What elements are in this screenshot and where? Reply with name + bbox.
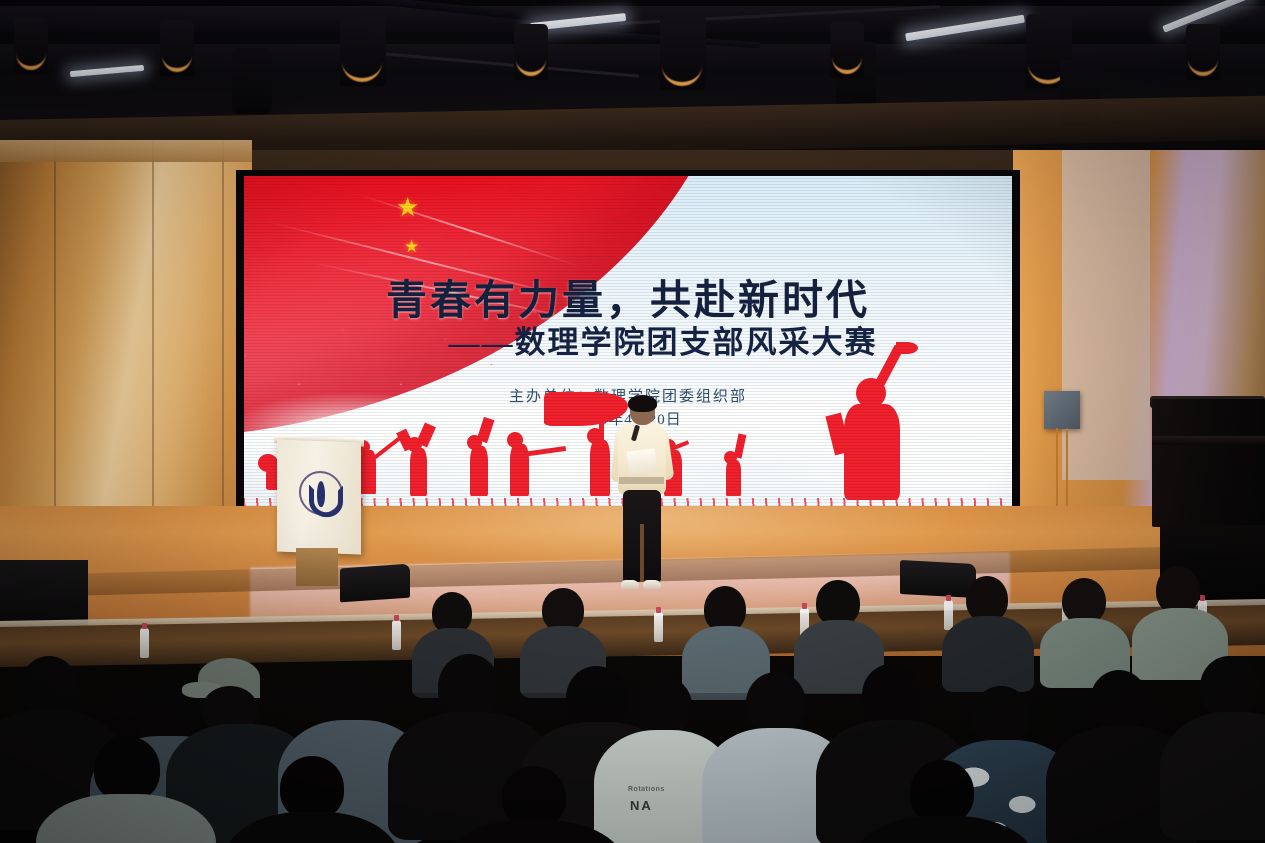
stage-spotlight-2 <box>160 20 194 76</box>
na-shirt <box>594 730 734 843</box>
baseball-cap <box>198 658 260 698</box>
stage-spotlight-3 <box>340 12 386 86</box>
shirt-graphic-text: NA <box>630 798 653 813</box>
speaker-cable-1 <box>1056 428 1058 514</box>
water-bottle <box>392 620 401 650</box>
presenter-belt <box>619 477 664 484</box>
right-wall-panel <box>1062 150 1150 480</box>
stage-spotlight-1 <box>14 18 48 74</box>
water-bottle <box>1198 600 1207 630</box>
slide-subtitle: ——数理学院团支部风采大赛 <box>244 317 1012 362</box>
stage-spotlight-5 <box>660 16 706 90</box>
university-crest-icon <box>299 470 343 516</box>
presenter-script-papers <box>627 448 658 475</box>
flag-star-small: ★ <box>404 238 419 255</box>
water-bottle <box>654 612 663 642</box>
audience-shadow-layer <box>0 693 1265 843</box>
flag-star-large: ★ <box>396 194 419 220</box>
podium-base <box>296 548 338 586</box>
piano-keyboard-cover <box>1152 436 1265 445</box>
presenter <box>612 398 672 598</box>
water-bottle <box>944 600 953 630</box>
stage-monitor-right <box>900 560 976 598</box>
presenter-shoe-left <box>621 580 639 589</box>
presenter-hair <box>628 395 657 412</box>
piano-lower-body <box>1160 525 1265 605</box>
stage-spotlight-6 <box>830 22 864 78</box>
left-wall-header <box>0 140 252 162</box>
patterned-shirt <box>928 740 1080 843</box>
wall-mounted-speaker <box>1044 391 1080 429</box>
speaker-cable-2 <box>1066 428 1068 508</box>
water-bottle <box>1062 596 1071 626</box>
water-bottle <box>800 608 809 638</box>
presenter-shoe-right <box>643 580 661 589</box>
water-bottle <box>140 628 149 658</box>
podium <box>277 440 361 555</box>
stage-spotlight-4 <box>514 24 548 80</box>
spotlight-housing-1 <box>232 48 272 114</box>
stage-monitor-left <box>340 564 410 603</box>
upright-piano <box>1152 399 1265 527</box>
stage-spotlight-8 <box>1186 24 1220 80</box>
auditorium-scene: ★ ★ 青春有力量，共赴新时代 ——数理学院团支部风采大赛 主办单位：数理学院团… <box>0 0 1265 843</box>
shirt-graphic-sub: Rotations <box>628 786 665 793</box>
